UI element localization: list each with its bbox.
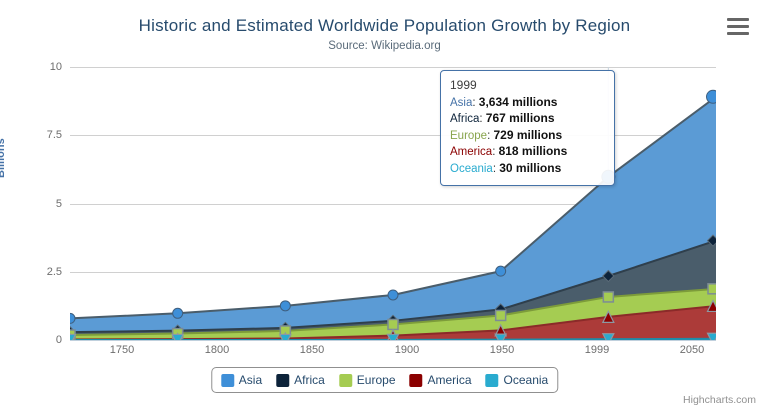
tooltip-series-value: 818 millions [499,144,568,158]
tooltip-series-value: 729 millions [493,128,562,142]
chart-title: Historic and Estimated Worldwide Populat… [0,16,769,36]
tooltip-row-america: America: 818 millions [450,144,605,161]
tooltip-series-value: 3,634 millions [479,95,558,109]
tooltip-series-name: Oceania [450,163,493,175]
menu-line [727,18,749,21]
tooltip: 1999 Asia: 3,634 millionsAfrica: 767 mil… [440,70,615,186]
legend-label: Asia [239,373,262,387]
highcharts-container: Historic and Estimated Worldwide Populat… [0,0,769,416]
marker-europe-1950[interactable] [496,310,506,320]
tooltip-header: 1999 [450,78,605,94]
y-tick-10: 10 [14,61,62,73]
legend-item-america[interactable]: America [410,373,472,387]
x-tick-1950: 1950 [472,344,532,356]
x-axis-line [70,340,716,341]
x-tick-1850: 1850 [282,344,342,356]
legend: AsiaAfricaEuropeAmericaOceania [211,367,558,393]
x-tick-1999: 1999 [567,344,627,356]
marker-europe-2050[interactable] [708,284,716,294]
y-tick-0: 0 [14,334,62,346]
legend-swatch-icon [339,374,352,387]
x-tick-1900: 1900 [377,344,437,356]
marker-asia-2050[interactable] [707,90,717,103]
tooltip-series-value: 767 millions [486,111,555,125]
y-tick-5: 5 [14,198,62,210]
marker-europe-1999[interactable] [603,292,613,302]
marker-asia-1900[interactable] [388,290,398,300]
tooltip-series-value: 30 millions [499,161,561,175]
legend-label: America [428,373,472,387]
tooltip-row-europe: Europe: 729 millions [450,128,605,145]
highcharts-credit: Highcharts.com [683,394,756,406]
legend-item-europe[interactable]: Europe [339,373,396,387]
marker-europe-1900[interactable] [388,319,398,329]
legend-swatch-icon [221,374,234,387]
marker-asia-1850[interactable] [280,301,290,311]
chart-subtitle: Source: Wikipedia.org [0,40,769,52]
y-tick-2.5: 2.5 [14,266,62,278]
tooltip-series-name: Africa [450,113,479,125]
tooltip-row-asia: Asia: 3,634 millions [450,95,605,112]
y-tick-7.5: 7.5 [14,129,62,141]
legend-swatch-icon [486,374,499,387]
tooltip-series-name: Asia [450,97,472,109]
legend-item-oceania[interactable]: Oceania [486,373,549,387]
legend-swatch-icon [276,374,289,387]
legend-item-asia[interactable]: Asia [221,373,262,387]
tooltip-row-oceania: Oceania: 30 millions [450,161,605,178]
tooltip-series-name: America [450,146,492,158]
x-tick-1750: 1750 [92,344,152,356]
plot-area [70,67,716,340]
tooltip-series-name: Europe [450,130,487,142]
tooltip-row-africa: Africa: 767 millions [450,111,605,128]
marker-asia-1950[interactable] [496,266,506,276]
x-tick-2050: 2050 [662,344,722,356]
menu-line [727,25,749,28]
x-tick-1800: 1800 [187,344,247,356]
tooltip-rows: Asia: 3,634 millionsAfrica: 767 millions… [450,95,605,178]
marker-asia-1800[interactable] [173,308,183,318]
y-axis-title: Billions [0,138,7,178]
legend-item-africa[interactable]: Africa [276,373,325,387]
legend-label: Africa [294,373,325,387]
hamburger-menu-icon[interactable] [727,18,749,36]
menu-line [727,32,749,35]
legend-label: Europe [357,373,396,387]
legend-label: Oceania [504,373,549,387]
legend-swatch-icon [410,374,423,387]
series-layer [70,67,716,340]
